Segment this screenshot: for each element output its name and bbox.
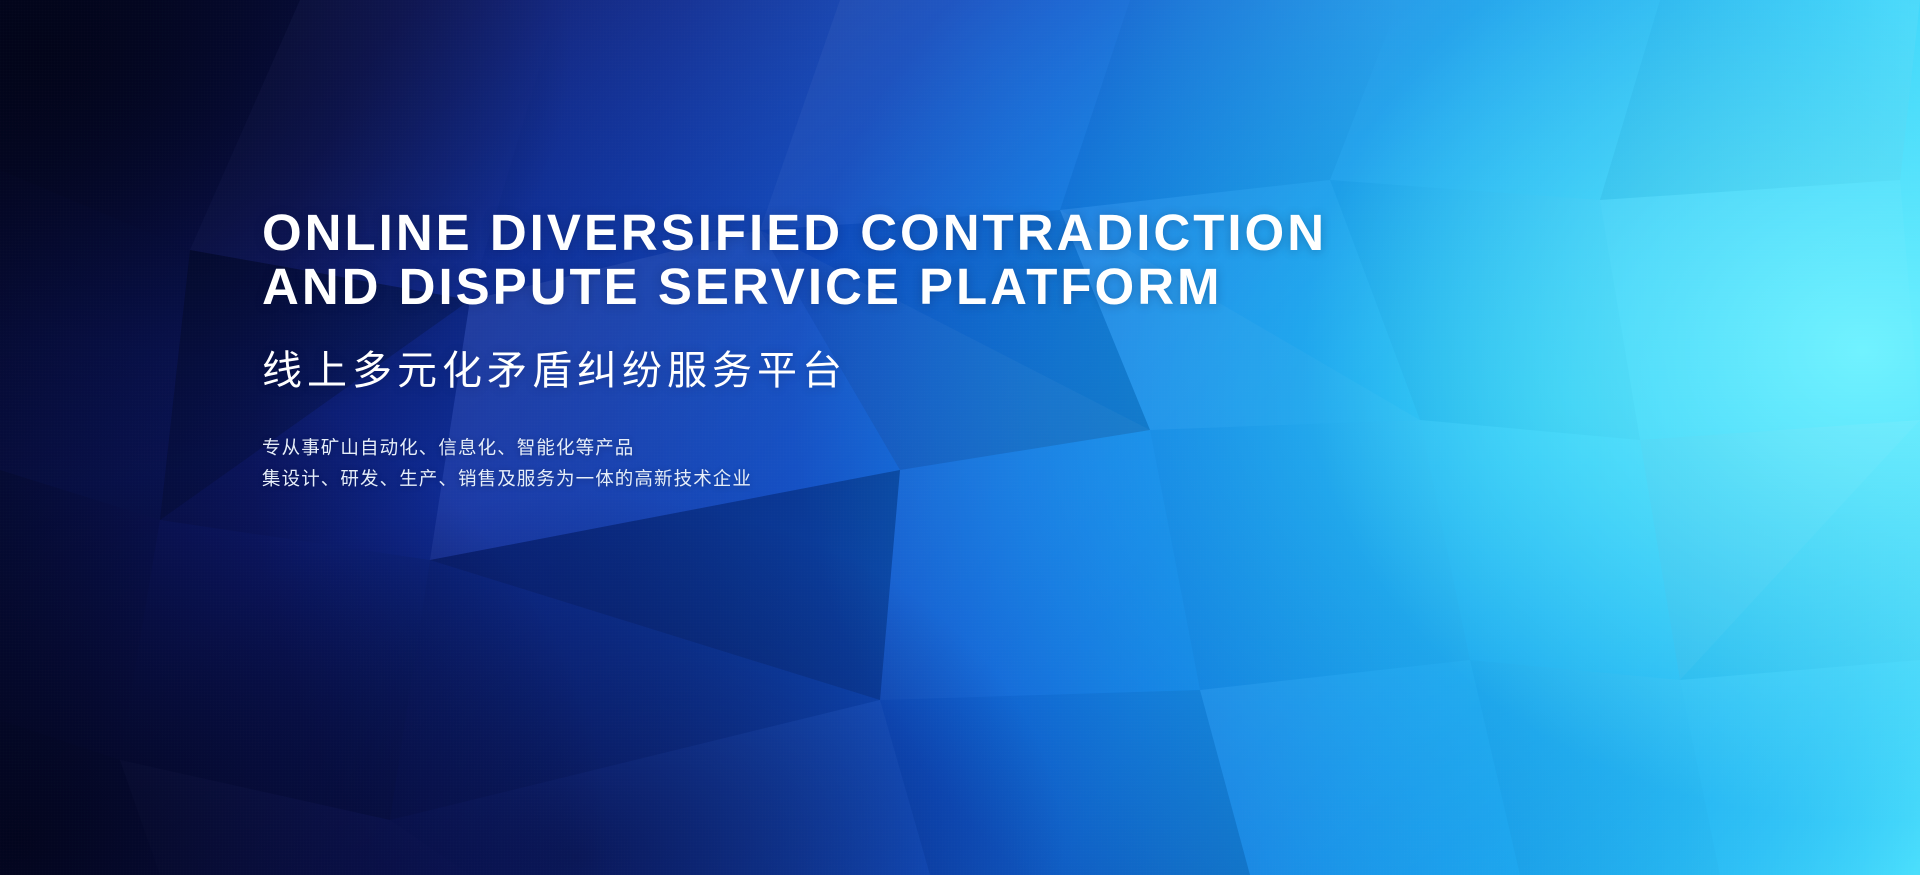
page-title: ONLINE DIVERSIFIED CONTRADICTION AND DIS…	[262, 206, 1442, 314]
headline-line-1: ONLINE DIVERSIFIED CONTRADICTION	[262, 206, 1442, 260]
description-block: 专从事矿山自动化、信息化、智能化等产品 集设计、研发、生产、销售及服务为一体的高…	[262, 432, 1442, 494]
banner-content: ONLINE DIVERSIFIED CONTRADICTION AND DIS…	[262, 172, 1442, 494]
headline-line-2: AND DISPUTE SERVICE PLATFORM	[262, 260, 1442, 314]
description-line-1: 专从事矿山自动化、信息化、智能化等产品	[262, 432, 1442, 463]
hero-banner: ONLINE DIVERSIFIED CONTRADICTION AND DIS…	[0, 0, 1920, 875]
description-line-2: 集设计、研发、生产、销售及服务为一体的高新技术企业	[262, 463, 1442, 494]
subtitle-chinese: 线上多元化矛盾纠纷服务平台	[262, 348, 1442, 394]
